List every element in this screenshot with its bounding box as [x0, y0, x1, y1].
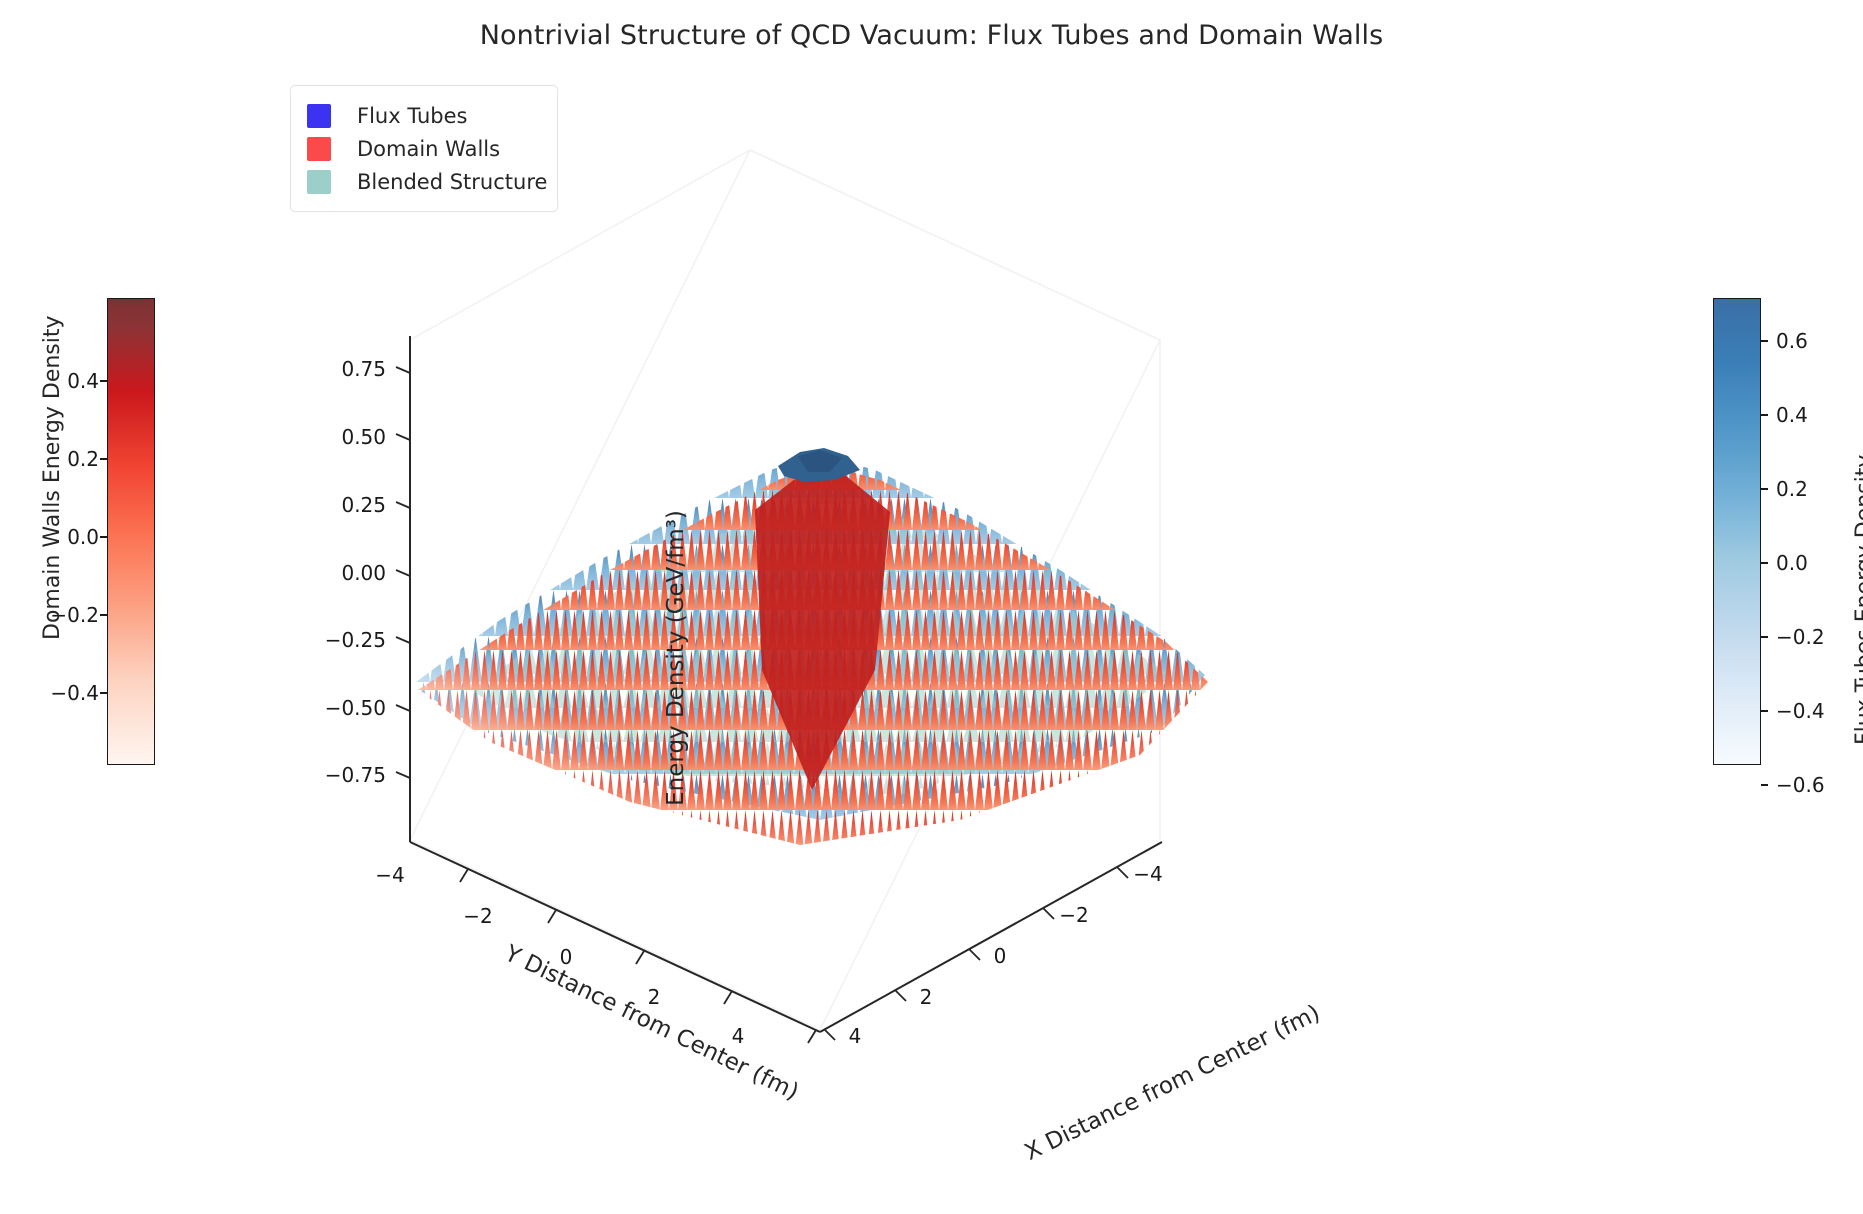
colorbar-tick-label: 0.0: [67, 525, 99, 549]
z-tick-label: 0.50: [341, 425, 386, 449]
colorbar-tick-label: 0.2: [67, 447, 99, 471]
x-tick-label: 0: [994, 944, 1007, 968]
x-axis-title: X Distance from Center (fm): [1021, 1000, 1324, 1166]
x-tick-label: −4: [1133, 862, 1162, 886]
x-tick-label: 2: [920, 985, 933, 1009]
x-tick-marks: [824, 867, 1128, 1040]
surface-domain-walls: [418, 463, 1208, 845]
colorbar-tick-label: −0.6: [1776, 773, 1825, 797]
y-tick-label: −2: [463, 904, 492, 928]
tick-mark: [1761, 414, 1768, 415]
square-swatch-icon: [307, 104, 331, 128]
legend-item-label: Flux Tubes: [357, 104, 467, 128]
tick-mark: [1761, 488, 1768, 489]
colorbar-tick-label: 0.2: [1776, 477, 1808, 501]
colorbar-flux-tubes-ticks: 0.6 0.4 0.2 0.0 −0.2 −0.4 −0.6: [1713, 298, 1833, 765]
tick-mark: [1761, 562, 1768, 563]
colorbar-tick-label: 0.4: [67, 369, 99, 393]
x-tick-label: 4: [849, 1024, 862, 1048]
tick-mark: [1761, 636, 1768, 637]
colorbar-domain-walls-title: Domain Walls Energy Density: [40, 315, 65, 640]
tick-mark: [100, 614, 107, 615]
tick-mark: [100, 536, 107, 537]
surface-plot-3d[interactable]: 0.75 0.50 0.25 0.00 −0.25 −0.50 −0.75 −4…: [300, 130, 1400, 960]
legend-item-flux-tubes[interactable]: Flux Tubes: [307, 99, 543, 132]
tick-mark: [1761, 340, 1768, 341]
tick-mark: [100, 692, 107, 693]
figure-canvas: Nontrivial Structure of QCD Vacuum: Flux…: [0, 0, 1863, 1214]
tick-mark: [100, 380, 107, 381]
surface-mesh: [412, 448, 1208, 845]
colorbar-tick-label: 0.0: [1776, 551, 1808, 575]
y-tick-label: −4: [375, 863, 404, 887]
tick-mark: [1761, 784, 1768, 785]
y-tick-label: 2: [648, 985, 661, 1009]
z-tick-label: −0.25: [325, 628, 386, 652]
colorbar-tick-label: 0.6: [1776, 329, 1808, 353]
plot-svg: [300, 130, 1400, 960]
tick-mark: [100, 458, 107, 459]
z-tick-label: −0.50: [325, 696, 386, 720]
z-tick-label: 0.00: [341, 561, 386, 585]
x-tick-label: −2: [1059, 903, 1088, 927]
colorbar-tick-label: −0.4: [50, 681, 99, 705]
colorbar-flux-tubes-title: Flux Tubes Energy Density: [1852, 455, 1863, 745]
colorbar-domain-walls-ticks: 0.4 0.2 0.0 −0.2 −0.4: [107, 298, 227, 765]
colorbar-tick-label: −0.4: [1776, 699, 1825, 723]
z-axis-title: Energy Density (GeV/fm³): [663, 510, 689, 806]
page-title: Nontrivial Structure of QCD Vacuum: Flux…: [0, 20, 1863, 51]
y-axis-title: Y Distance from Center (fm): [501, 940, 803, 1105]
z-tick-marks: [396, 367, 410, 778]
z-tick-label: 0.75: [341, 357, 386, 381]
colorbar-tick-label: −0.2: [1776, 625, 1825, 649]
z-tick-label: 0.25: [341, 493, 386, 517]
y-tick-label: 4: [732, 1024, 745, 1048]
tick-mark: [1761, 710, 1768, 711]
colorbar-tick-label: 0.4: [1776, 403, 1808, 427]
z-tick-label: −0.75: [325, 763, 386, 787]
